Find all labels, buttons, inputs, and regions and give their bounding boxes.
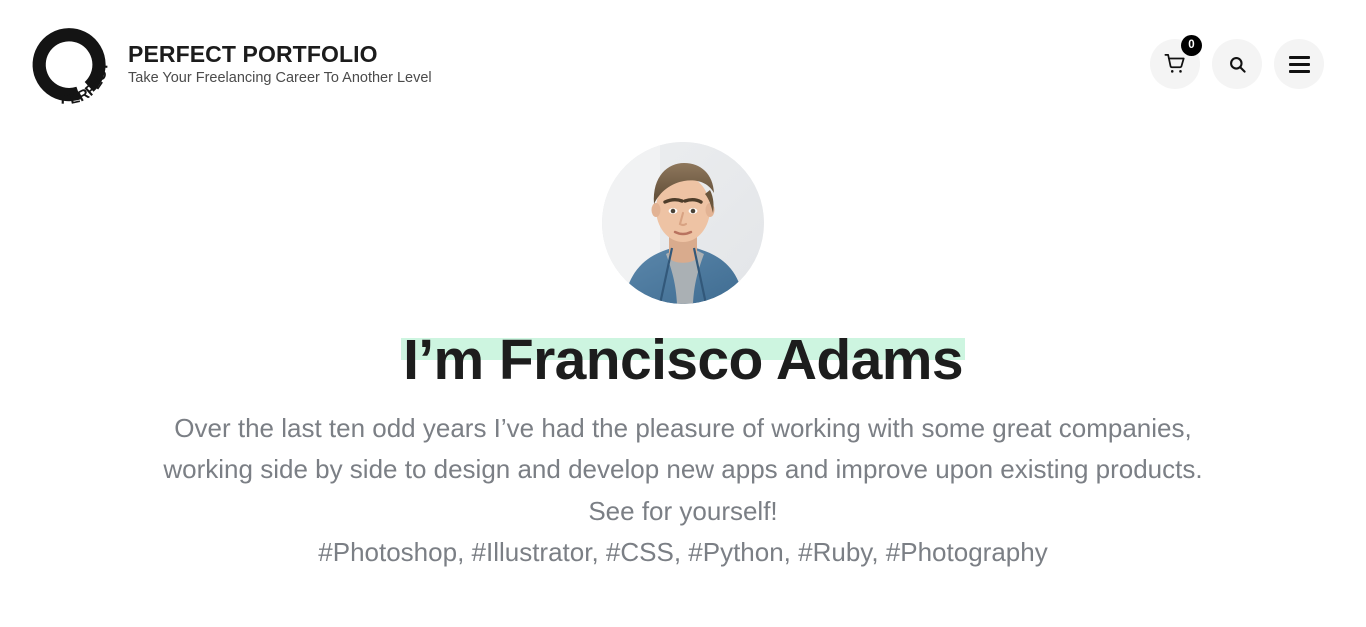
menu-button[interactable] [1274, 39, 1324, 89]
hero-skill-tags: #Photoshop, #Illustrator, #CSS, #Python,… [0, 532, 1366, 573]
cart-count-badge: 0 [1181, 35, 1202, 56]
search-icon [1228, 55, 1247, 74]
shopping-cart-icon [1164, 53, 1186, 75]
hamburger-menu-icon [1289, 56, 1310, 73]
header-actions: 0 [1150, 39, 1324, 89]
brand-logo-link[interactable]: PERFECT PERFECT PORTFOLIO Take Your Free… [24, 20, 432, 108]
brand-text-block: PERFECT PORTFOLIO Take Your Freelancing … [128, 41, 432, 88]
search-button[interactable] [1212, 39, 1262, 89]
hero-description: Over the last ten odd years I’ve had the… [128, 408, 1238, 531]
site-header: PERFECT PERFECT PORTFOLIO Take Your Free… [0, 0, 1366, 128]
svg-text:PERFECT: PERFECT [60, 61, 111, 108]
brand-tagline: Take Your Freelancing Career To Another … [128, 70, 432, 87]
brand-title: PERFECT PORTFOLIO [128, 41, 432, 67]
page-title: I’m Francisco Adams [401, 330, 965, 390]
page-title-text: I’m Francisco Adams [403, 328, 963, 392]
circular-ring-logo-icon: PERFECT [24, 20, 112, 108]
hero-section: I’m Francisco Adams Over the last ten od… [0, 128, 1366, 573]
avatar [602, 142, 764, 304]
cart-button[interactable]: 0 [1150, 39, 1200, 89]
